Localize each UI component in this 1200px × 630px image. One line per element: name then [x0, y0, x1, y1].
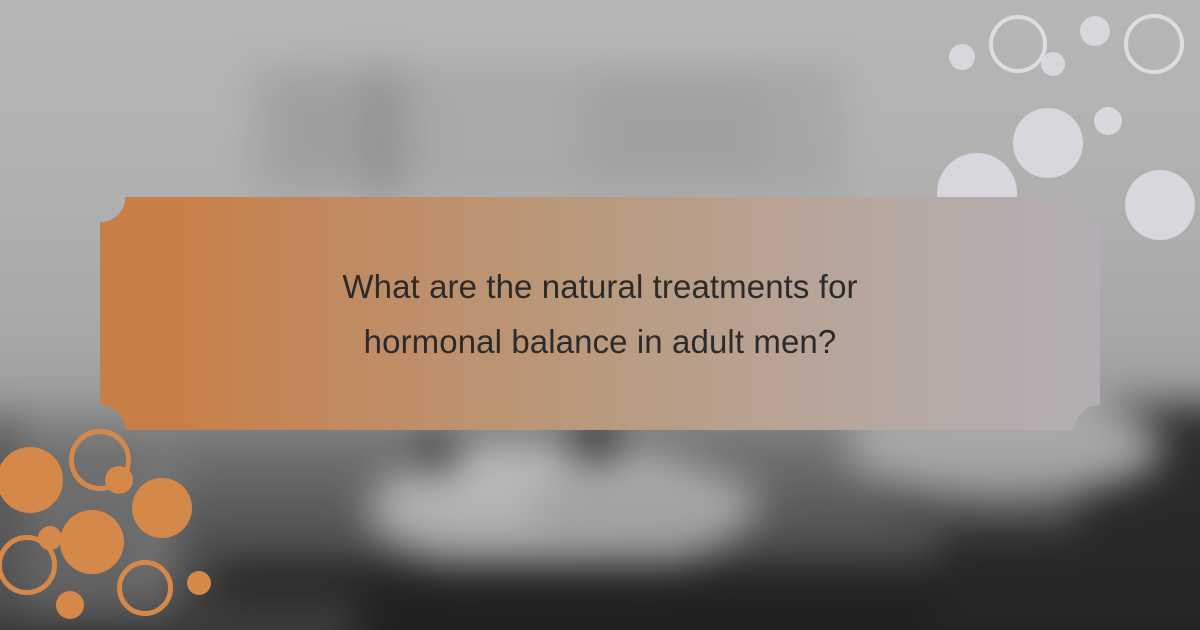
- quote-line-2: hormonal balance in adult men?: [190, 314, 1010, 369]
- quote-line-1: What are the natural treatments for: [190, 259, 1010, 314]
- quote-card: What are the natural treatments for horm…: [100, 197, 1100, 430]
- quote-text: What are the natural treatments for horm…: [170, 259, 1030, 369]
- share-card-canvas: What are the natural treatments for horm…: [0, 0, 1200, 630]
